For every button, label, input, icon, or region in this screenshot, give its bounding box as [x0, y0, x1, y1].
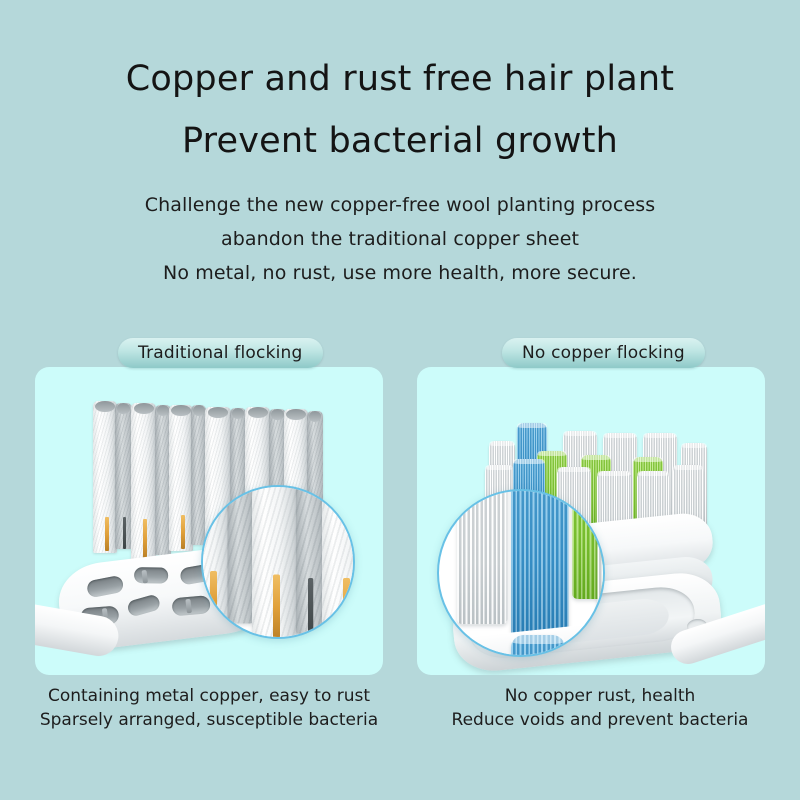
- copper-strip-zoom: [273, 575, 280, 640]
- magnifier-lens-traditional: [201, 485, 355, 639]
- caption-line-2: Sparsely arranged, susceptible bacteria: [9, 708, 409, 732]
- caption-line-2: Reduce voids and prevent bacteria: [400, 708, 800, 732]
- page-title-line-2: Prevent bacterial growth: [0, 118, 800, 164]
- panel-badge-traditional: Traditional flocking: [118, 338, 323, 368]
- bristle-hole: [134, 567, 168, 584]
- subheading-line-1: Challenge the new copper-free wool plant…: [0, 192, 800, 218]
- tuft-hollow-zoom: [322, 485, 355, 639]
- metal-pin: [123, 517, 126, 549]
- bristle-tuft-zoom: [590, 642, 605, 657]
- copper-strip-zoom: [210, 571, 217, 631]
- bristle-tuft-blue-zoom: [511, 635, 565, 657]
- comparison-panel-no-copper: [417, 367, 765, 675]
- bristle-hole: [86, 575, 125, 599]
- magnifier-lens-no-copper: [437, 489, 605, 657]
- subheading-line-2: abandon the traditional copper sheet: [0, 226, 800, 252]
- subheading-line-3: No metal, no rust, use more health, more…: [0, 260, 800, 286]
- copper-strip-zoom: [343, 578, 350, 639]
- comparison-panel-traditional: [35, 367, 383, 675]
- caption-line-1: Containing metal copper, easy to rust: [9, 684, 409, 708]
- copper-strip: [181, 515, 185, 549]
- page-title-line-1: Copper and rust free hair plant: [0, 56, 800, 102]
- copper-strip: [105, 517, 109, 551]
- product-infographic-page: Copper and rust free hair plant Prevent …: [0, 0, 800, 800]
- bristle-hole: [126, 593, 161, 617]
- traditional-flocking-illustration: [35, 367, 383, 675]
- tuft-hollow-zoom: [228, 485, 254, 624]
- bristle-tuft-zoom: [457, 489, 507, 624]
- caption-line-1: No copper rust, health: [400, 684, 800, 708]
- metal-pin-zoom: [308, 578, 313, 638]
- panel-caption-no-copper: No copper rust, health Reduce voids and …: [400, 684, 800, 732]
- copper-strip: [143, 519, 147, 559]
- bristle-tuft-blue-zoom: [511, 489, 569, 639]
- panel-caption-traditional: Containing metal copper, easy to rust Sp…: [9, 684, 409, 732]
- no-copper-flocking-illustration: [417, 367, 765, 675]
- panel-badge-no-copper: No copper flocking: [502, 338, 705, 368]
